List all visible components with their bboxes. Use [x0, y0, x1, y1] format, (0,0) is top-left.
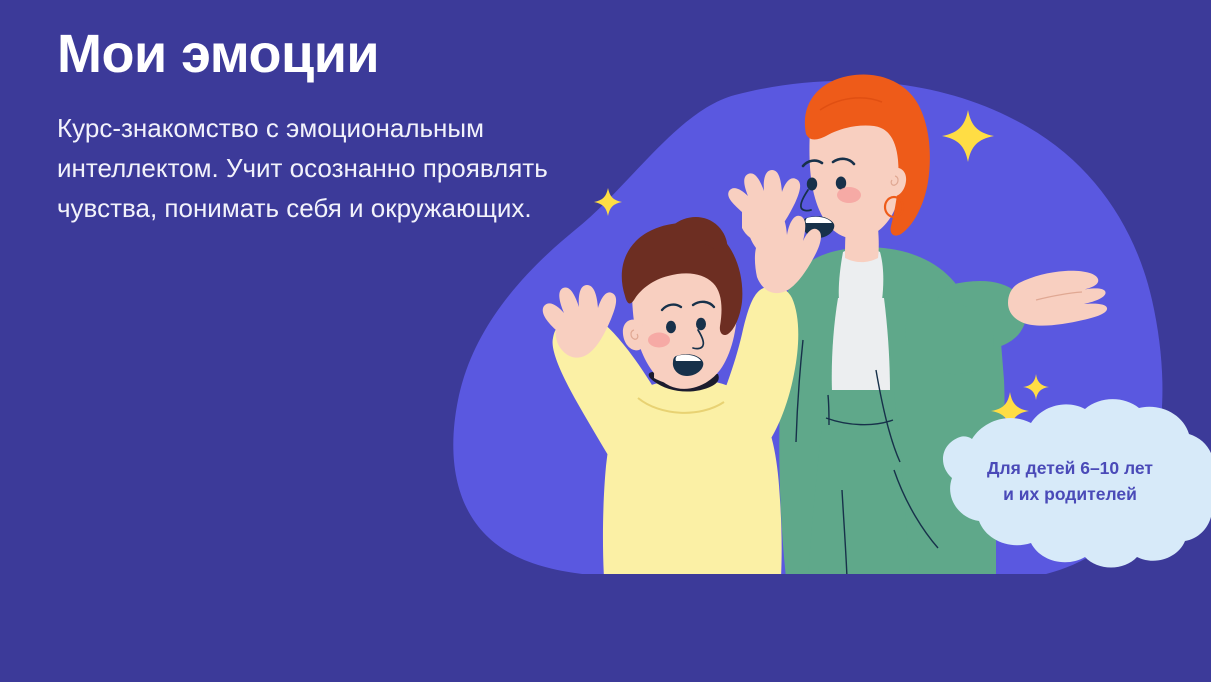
page-title: Мои эмоции [57, 22, 657, 86]
hero-text-column: Мои эмоции Курс-знакомство с эмоциональн… [57, 22, 657, 228]
course-hero-banner: Мои эмоции Курс-знакомство с эмоциональн… [0, 0, 1211, 682]
woman-shirt-front [832, 298, 890, 392]
woman-eye-left [807, 178, 817, 191]
boy-eye-right [696, 318, 706, 330]
woman-skirt [808, 390, 910, 578]
boy-sweater [603, 379, 782, 578]
boy-eye-left [666, 321, 676, 333]
woman-cheek-blush [837, 187, 861, 203]
course-description: Курс-знакомство с эмоциональным интеллек… [57, 108, 637, 228]
boy-cheek-blush [648, 333, 670, 348]
